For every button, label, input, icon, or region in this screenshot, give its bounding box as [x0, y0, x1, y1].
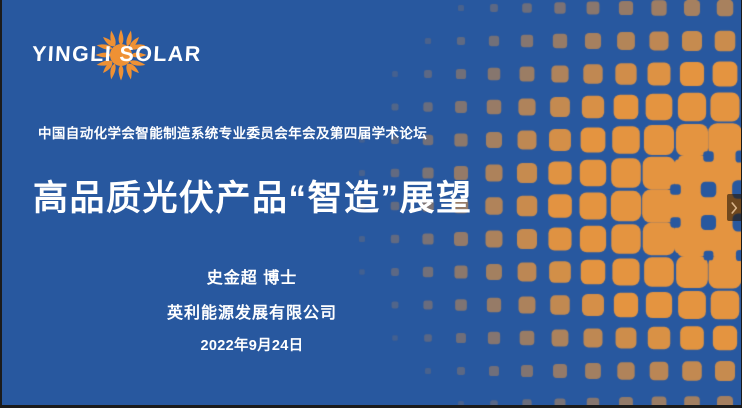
- presentation-date: 2022年9月24日: [2, 334, 502, 355]
- presenter-block: 史金超 博士 英利能源发展有限公司 2022年9月24日: [2, 264, 502, 355]
- chevron-right-icon: [731, 202, 738, 214]
- conference-subtitle: 中国自动化学会智能制造系统专业委员会年会及第四届学术论坛: [38, 122, 427, 142]
- presentation-slide: YINGLI SOLAR 中国自动化学会智能制造系统专业委员会年会及第四届学术论…: [0, 0, 742, 408]
- presenter-name: 史金超 博士: [2, 264, 502, 288]
- slide-title: 高品质光伏产品“智造”展望: [33, 178, 473, 220]
- presenter-company: 英利能源发展有限公司: [2, 299, 502, 323]
- brand-wordmark: YINGLI SOLAR: [31, 42, 212, 67]
- next-slide-button[interactable]: [727, 194, 741, 221]
- brand-logo: YINGLI SOLAR: [32, 28, 212, 84]
